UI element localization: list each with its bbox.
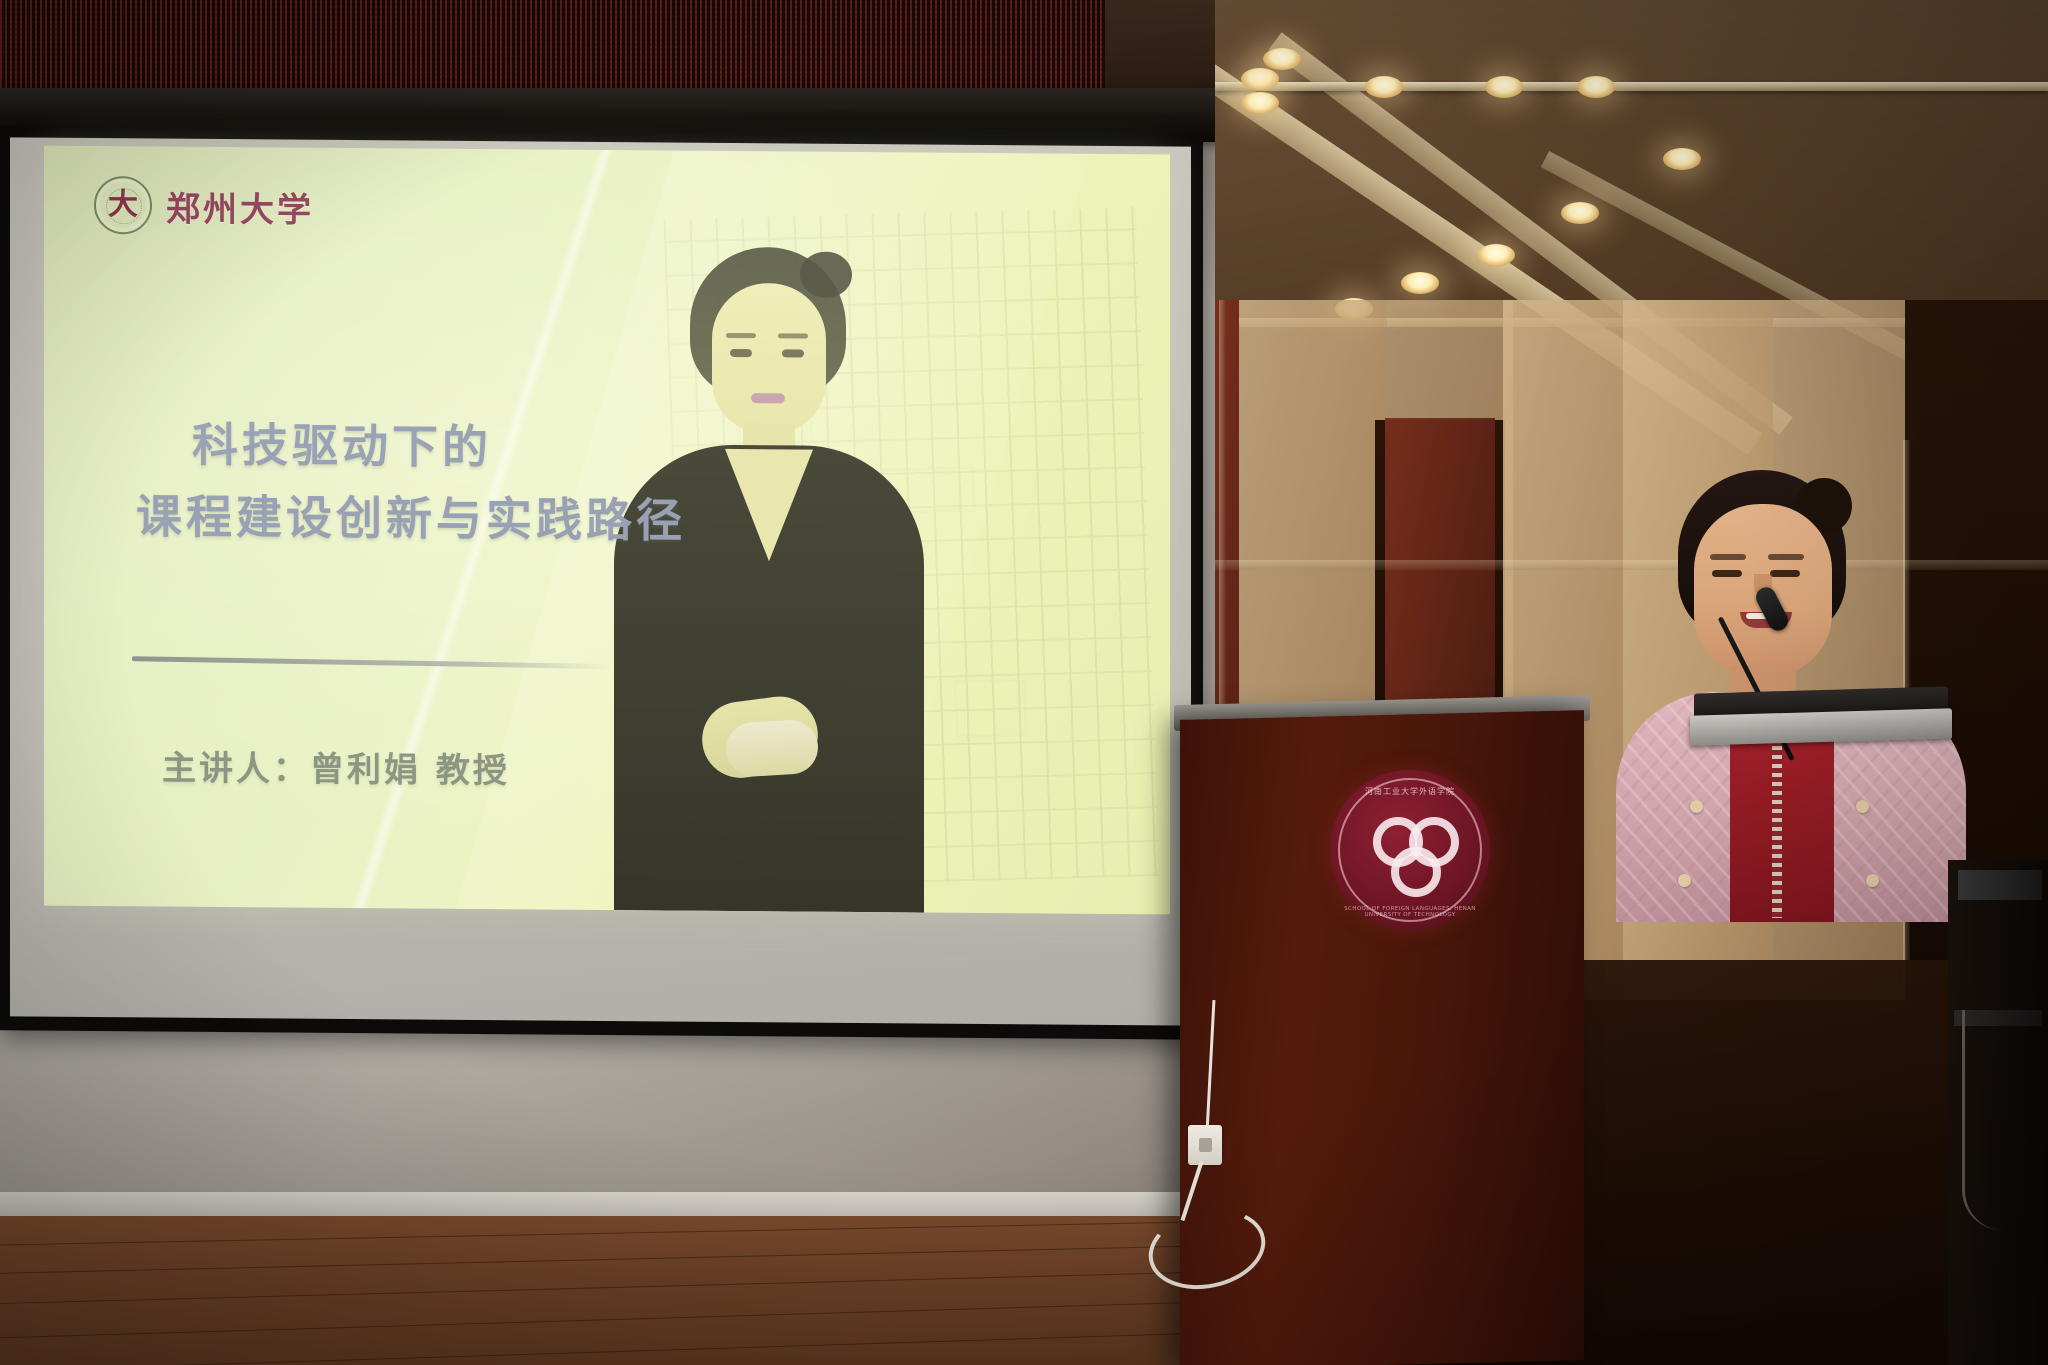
slide-institution-logo: 大 郑州大学 [94,176,314,236]
jacket-button-1 [1690,800,1703,813]
portrait-hand-overlap [724,718,820,778]
portrait-hair-bun [800,252,852,298]
slide-title-line-1: 科技驱动下的 [192,417,696,478]
crest-english-name: SCHOOL OF FOREIGN LANGUAGES, HENAN UNIVE… [1330,906,1490,918]
outlet-socket [1199,1138,1212,1152]
downlight-4 [1485,76,1523,98]
downlight-1 [1241,68,1279,90]
slide-title-block: 科技驱动下的 课程建设创新与实践路径 [136,416,696,549]
downlight-3 [1365,76,1403,98]
ceiling-glass-rail-upper [1215,82,2048,91]
crest-chinese-name: 河南工业大学外语学院 [1330,786,1490,797]
presenter-placket-trim [1772,728,1782,918]
presenter-brow-left [1710,554,1746,560]
projected-slide: 大 郑州大学 科技驱动下的 课程建设创新与实践路径 主讲人：曾利娟 教授 [44,146,1170,915]
portrait-face [712,283,826,434]
portrait-eye-right [782,349,804,357]
av-panel-top [1958,870,2042,900]
slide-title-line-2: 课程建设创新与实践路径 [136,488,696,550]
portrait-eye-left [730,349,752,357]
slide-portrait-photo [604,246,934,913]
downlight-7 [1561,202,1599,224]
lecture-hall-photo: 大 郑州大学 科技驱动下的 课程建设创新与实践路径 主讲人：曾利娟 教授 [0,0,2048,1365]
portrait-lips [751,393,785,403]
presenter-eye-left [1712,570,1742,577]
portrait-brow-right [778,333,808,338]
portrait-brow-left [726,333,756,338]
slide-speaker-line: 主讲人：曾利娟 教授 [162,741,510,793]
downlight-9 [1401,272,1439,294]
downlight-6 [1663,148,1701,170]
jacket-button-2 [1856,800,1869,813]
portrait-v-neckline [725,449,813,562]
downlight-8 [1477,244,1515,266]
seal-glyph: 大 [108,190,138,220]
university-name: 郑州大学 [166,181,314,231]
presenter [1620,470,1960,890]
university-seal-icon: 大 [94,176,152,234]
crest-knot-motif [1373,813,1447,887]
av-equipment-rack [1948,860,2048,1365]
jacket-button-3 [1678,874,1691,887]
school-crest-icon: 河南工业大学外语学院 SCHOOL OF FOREIGN LANGUAGES, … [1330,770,1490,930]
presenter-eye-right [1770,570,1800,577]
jacket-button-4 [1866,874,1879,887]
downlight-2 [1241,92,1279,114]
downlight-5 [1577,76,1615,98]
av-cable [1962,1010,2011,1230]
wall-power-outlet[interactable] [1188,1125,1222,1165]
downlight-11 [1263,48,1301,70]
presenter-brow-right [1768,554,1804,560]
wood-floor [0,1216,1300,1365]
acoustic-wall-panel [0,0,1110,98]
